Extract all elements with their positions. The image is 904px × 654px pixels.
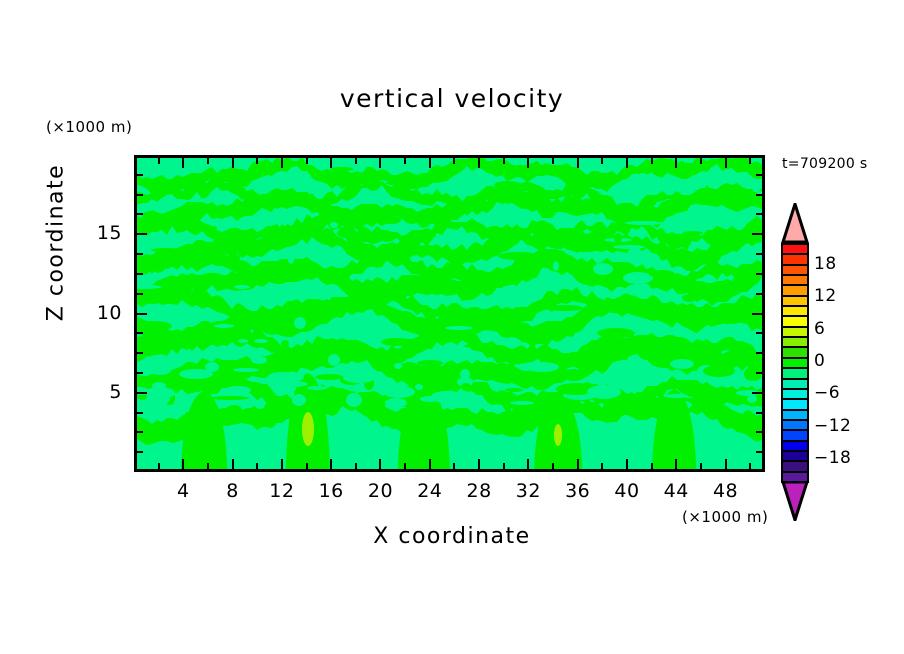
contour-filament <box>613 245 645 249</box>
contour-filament <box>553 261 559 271</box>
contour-filament <box>383 386 415 398</box>
tick-mark <box>552 158 554 164</box>
contour-filament <box>464 344 488 348</box>
tick-mark <box>182 158 184 168</box>
contour-filament <box>330 167 354 171</box>
tick-mark <box>756 174 762 176</box>
contour-filament <box>381 216 401 224</box>
contour-filament <box>747 395 757 403</box>
tick-mark <box>601 463 603 469</box>
tick-mark <box>330 158 332 168</box>
x-tick-label: 36 <box>556 480 600 502</box>
contour-filament <box>276 288 284 292</box>
y-tick-label: 15 <box>78 222 122 244</box>
contour-field <box>137 158 762 469</box>
tick-mark <box>453 463 455 469</box>
contour-filament <box>330 222 338 228</box>
contour-filament <box>274 381 308 387</box>
x-tick-label: 4 <box>161 480 205 502</box>
tick-mark <box>756 332 762 334</box>
tick-mark <box>756 194 762 196</box>
tick-mark <box>137 194 143 196</box>
colorbar-under-arrow <box>781 481 809 521</box>
tick-mark <box>137 273 143 275</box>
contour-filament <box>292 394 306 406</box>
tick-mark <box>404 158 406 164</box>
colorbar-tick-label: 12 <box>814 286 837 306</box>
contour-filament <box>234 285 250 289</box>
x-tick-label: 32 <box>506 480 550 502</box>
x-tick-label: 12 <box>260 480 304 502</box>
tick-mark <box>281 459 283 469</box>
tick-mark <box>752 233 762 235</box>
tick-mark <box>756 372 762 374</box>
contour-filament <box>308 299 324 307</box>
contour-filament <box>625 284 649 296</box>
colorbar-tick-label: −6 <box>814 383 840 403</box>
contour-filament <box>593 263 613 275</box>
contour-filament <box>587 385 621 399</box>
contour-filament <box>534 249 566 259</box>
tick-mark <box>137 412 143 414</box>
contour-filament <box>664 348 696 352</box>
tick-mark <box>453 158 455 164</box>
tick-mark <box>137 392 147 394</box>
x-tick-label: 20 <box>358 480 402 502</box>
contour-filament <box>294 317 306 329</box>
tick-mark <box>700 463 702 469</box>
contour-filament <box>274 372 304 382</box>
contour-filament <box>703 365 735 377</box>
tick-mark <box>232 158 234 168</box>
tick-mark <box>137 233 147 235</box>
contour-filament <box>163 199 189 203</box>
tick-mark <box>404 463 406 469</box>
contour-filament <box>710 312 748 324</box>
tick-mark <box>137 174 143 176</box>
contour-filament <box>445 326 473 330</box>
y-axis-unit-label: (×1000 m) <box>46 118 132 136</box>
tick-mark <box>281 158 283 168</box>
contour-filament <box>545 305 583 311</box>
x-tick-label: 8 <box>211 480 255 502</box>
tick-mark <box>503 158 505 164</box>
contour-filament <box>214 324 234 328</box>
contour-filament <box>211 396 249 400</box>
tick-mark <box>626 459 628 469</box>
tick-mark <box>478 459 480 469</box>
tick-mark <box>355 158 357 164</box>
contour-filament <box>614 233 622 243</box>
x-tick-label: 40 <box>605 480 649 502</box>
contour-filament <box>744 367 762 381</box>
contour-filament <box>683 231 703 235</box>
contour-filament <box>226 405 242 415</box>
contour-filament <box>627 356 635 366</box>
contour-filament <box>209 226 217 230</box>
contour-filament <box>649 270 675 278</box>
contour-filament <box>498 252 538 260</box>
contour-filament <box>149 365 171 375</box>
tick-mark <box>601 158 603 164</box>
tick-mark <box>137 431 143 433</box>
colorbar-tick-label: 6 <box>814 319 825 339</box>
tick-mark <box>137 332 143 334</box>
colorbar-tick-label: −12 <box>814 416 851 436</box>
contour-filament <box>225 386 251 394</box>
tick-mark <box>330 459 332 469</box>
contour-filament <box>385 398 407 408</box>
contour-filament <box>420 396 440 402</box>
contour-filament <box>411 376 427 382</box>
tick-mark <box>527 459 529 469</box>
contour-filament <box>147 355 169 363</box>
plot-area: 481216202428323640444851015 <box>134 155 765 472</box>
tick-mark <box>137 451 143 453</box>
contour-filament <box>381 338 413 346</box>
contour-filament <box>664 394 688 398</box>
tick-mark <box>675 158 677 168</box>
contour-filament <box>151 248 181 252</box>
tick-mark <box>756 293 762 295</box>
contour-filament <box>255 401 265 409</box>
tick-mark <box>756 352 762 354</box>
contour-filament <box>142 211 160 221</box>
contour-filament <box>690 390 718 396</box>
updraft-core <box>554 424 562 446</box>
tick-mark <box>232 459 234 469</box>
contour-filament <box>251 356 267 364</box>
x-tick-label: 28 <box>457 480 501 502</box>
colorbar-tick-label: 0 <box>814 351 825 371</box>
contour-filament <box>354 218 364 230</box>
tick-mark <box>749 463 751 469</box>
x-tick-label: 48 <box>704 480 748 502</box>
tick-mark <box>675 459 677 469</box>
tick-mark <box>749 158 751 164</box>
contour-filament <box>509 353 537 363</box>
contour-filament <box>386 180 424 186</box>
tick-mark <box>137 313 147 315</box>
contour-filament <box>307 386 327 390</box>
tick-mark <box>379 459 381 469</box>
contour-filament <box>415 384 423 390</box>
contour-filament <box>348 388 378 392</box>
contour-filament <box>574 332 590 336</box>
contour-filament <box>494 181 522 189</box>
contour-filament <box>505 388 523 392</box>
x-tick-label: 44 <box>654 480 698 502</box>
tick-mark <box>158 158 160 164</box>
tick-mark <box>756 253 762 255</box>
contour-filament <box>460 369 470 379</box>
contour-filament <box>414 234 436 238</box>
contour-filament <box>328 354 340 366</box>
contour-filament <box>343 373 375 383</box>
tick-mark <box>137 253 143 255</box>
contour-filament <box>625 221 663 225</box>
tick-mark <box>527 158 529 168</box>
tick-mark <box>725 158 727 168</box>
plot-frame <box>134 155 765 472</box>
tick-mark <box>379 158 381 168</box>
contour-filament <box>670 359 694 369</box>
colorbar-over-arrow <box>781 203 809 243</box>
contour-filament <box>230 254 240 262</box>
contour-filament <box>281 340 289 348</box>
tick-mark <box>756 273 762 275</box>
tick-mark <box>429 158 431 168</box>
tick-mark <box>756 412 762 414</box>
contour-filament <box>729 241 743 245</box>
page-title: vertical velocity <box>0 84 904 113</box>
tick-mark <box>752 392 762 394</box>
updraft-core <box>302 412 314 446</box>
tick-mark <box>552 463 554 469</box>
contour-filament <box>417 360 443 366</box>
tick-mark <box>700 158 702 164</box>
contour-filament <box>218 366 254 378</box>
tick-mark <box>137 352 143 354</box>
tick-mark <box>137 372 143 374</box>
tick-mark <box>725 459 727 469</box>
contour-filament <box>254 339 268 343</box>
tick-mark <box>756 431 762 433</box>
y-tick-label: 10 <box>78 302 122 324</box>
tick-mark <box>158 463 160 469</box>
tick-mark <box>256 463 258 469</box>
tick-mark <box>306 463 308 469</box>
contour-filament <box>525 362 559 372</box>
tick-mark <box>756 213 762 215</box>
tick-mark <box>137 293 143 295</box>
tick-mark <box>182 459 184 469</box>
contour-filament <box>315 374 343 380</box>
colorbar-tick-label: 18 <box>814 254 837 274</box>
contour-filament <box>510 401 534 405</box>
tick-mark <box>478 158 480 168</box>
contour-filament <box>337 228 357 238</box>
contour-filament <box>597 328 635 338</box>
contour-filament <box>542 190 556 198</box>
x-axis-title: X coordinate <box>0 524 904 549</box>
tick-mark <box>355 463 357 469</box>
tick-mark <box>429 459 431 469</box>
y-tick-label: 5 <box>78 381 122 403</box>
contour-filament <box>146 393 170 405</box>
contour-filament <box>238 339 248 343</box>
tick-mark <box>577 158 579 168</box>
tick-mark <box>207 463 209 469</box>
contour-filament <box>585 300 615 306</box>
tick-mark <box>651 463 653 469</box>
contour-filament <box>288 256 294 264</box>
tick-mark <box>577 459 579 469</box>
x-tick-label: 24 <box>408 480 452 502</box>
y-axis-title: Z coordinate <box>44 163 69 323</box>
contour-filament <box>461 383 471 391</box>
colorbar <box>781 203 809 521</box>
contour-filament <box>318 339 336 349</box>
contour-filament <box>623 272 653 284</box>
figure-canvas: vertical velocity (×1000 m) (×1000 m) X … <box>0 0 904 654</box>
contour-filament <box>562 369 586 381</box>
contour-filament <box>567 244 601 252</box>
tick-mark <box>207 158 209 164</box>
tick-mark <box>306 158 308 164</box>
contour-filament <box>233 368 259 372</box>
tick-mark <box>756 451 762 453</box>
tick-mark <box>626 158 628 168</box>
tick-mark <box>137 213 143 215</box>
tick-mark <box>651 158 653 164</box>
tick-mark <box>752 313 762 315</box>
contour-filament <box>499 410 537 420</box>
x-tick-label: 16 <box>309 480 353 502</box>
timestamp-annotation: t=709200 s <box>782 156 867 172</box>
contour-filament <box>179 369 213 379</box>
colorbar-tick-label: −18 <box>814 448 851 468</box>
tick-mark <box>503 463 505 469</box>
contour-filament <box>182 378 202 392</box>
contour-filament <box>346 393 362 407</box>
contour-filament <box>394 363 402 369</box>
contour-filament <box>152 382 166 390</box>
tick-mark <box>256 158 258 164</box>
contour-filament <box>682 294 696 302</box>
